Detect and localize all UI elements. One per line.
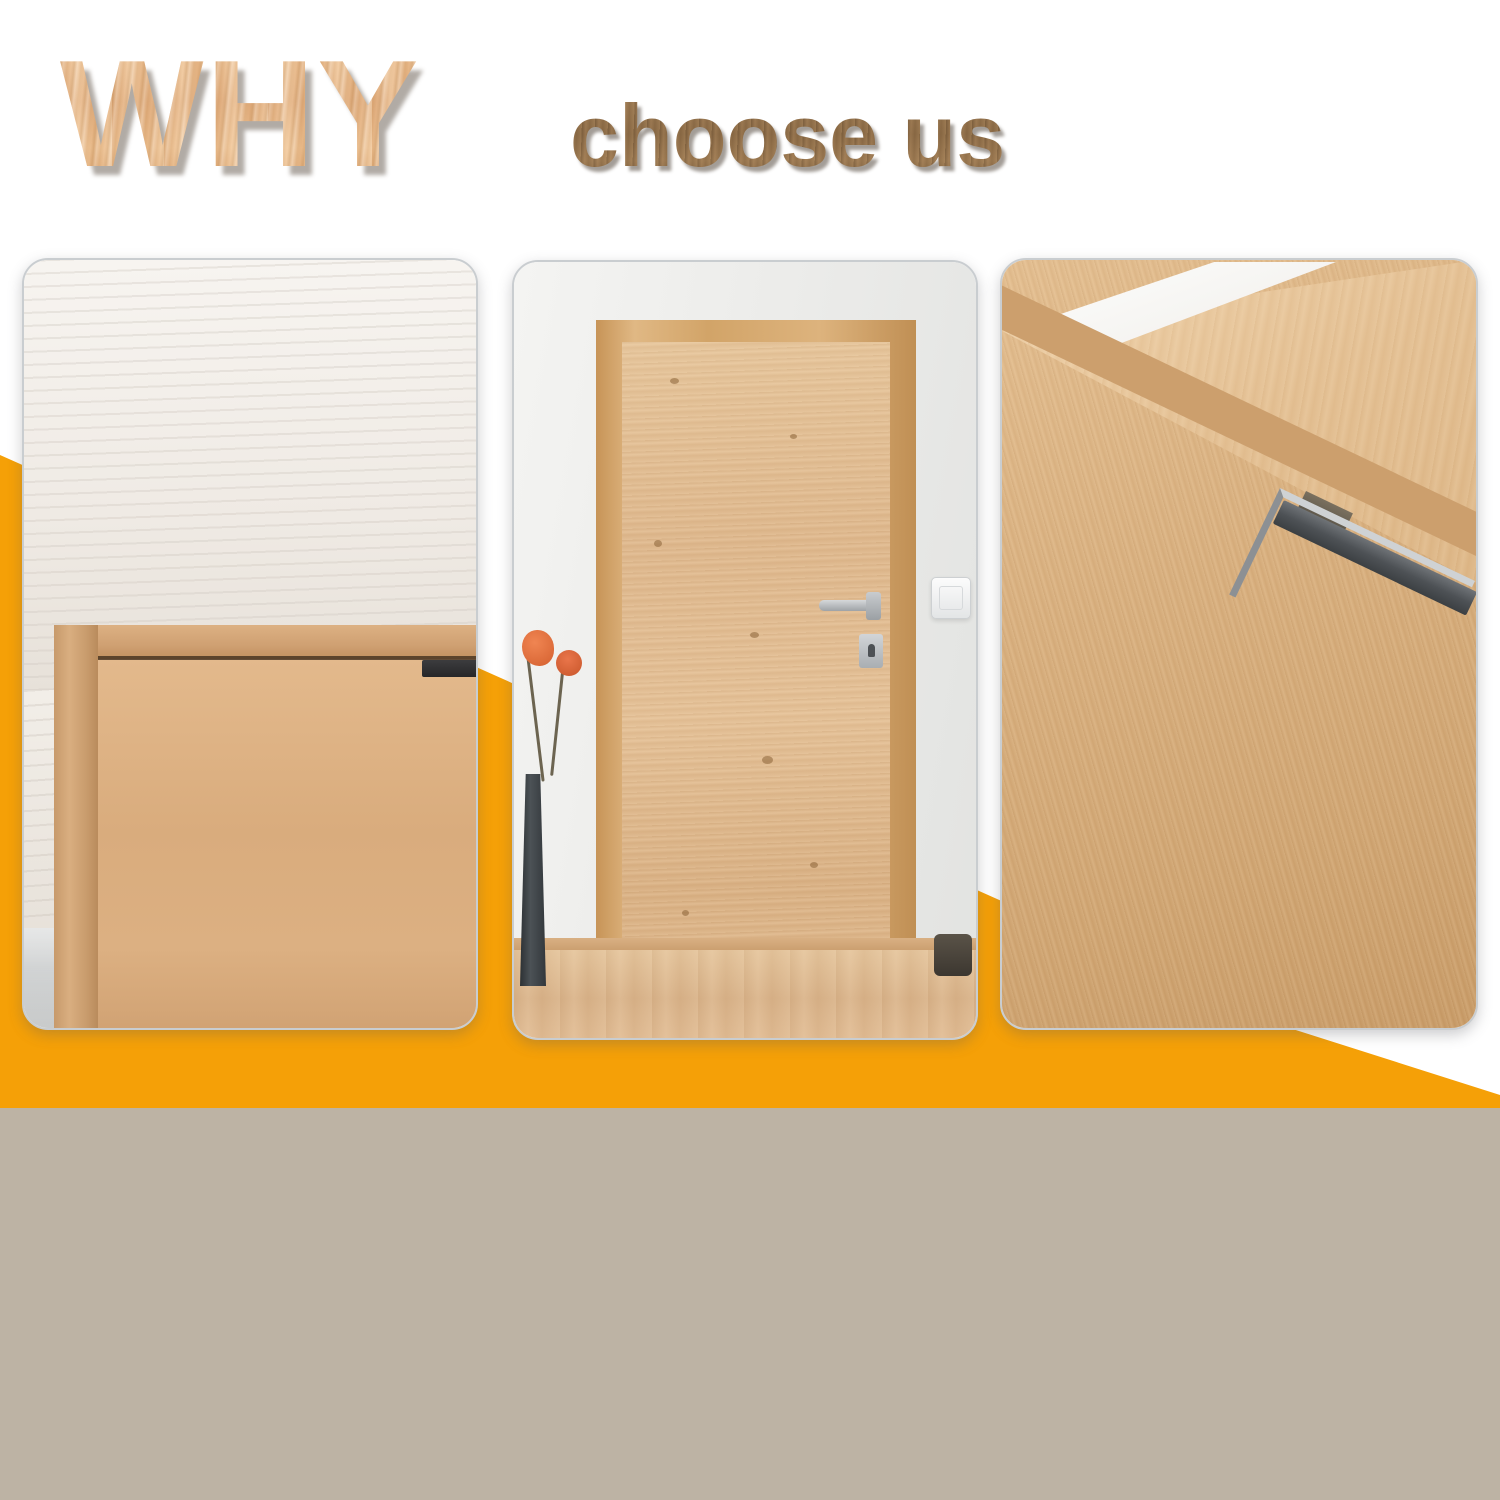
gallery-card-sideboard: [22, 258, 478, 1030]
dried-poppy-flower: [556, 650, 582, 676]
wood-knot: [790, 434, 797, 439]
wood-knot: [682, 910, 689, 916]
page-title-secondary: choose us: [570, 92, 1005, 180]
feature-list: HIGH QUALITY MATERIAL NATURE REDOAK WOOD…: [0, 1108, 1500, 1500]
dried-poppy-flower: [522, 630, 554, 666]
cabinet-door-panel: [98, 659, 478, 1030]
cabinet-top: [54, 625, 478, 659]
wood-knot: [670, 378, 679, 384]
gallery-card-drawer: [1000, 258, 1478, 1030]
floor-basket: [934, 934, 972, 976]
photo-drawer-edge-closeup: [1002, 260, 1476, 1028]
door-handle-rosette: [866, 592, 881, 620]
keyhole-icon: [868, 644, 875, 657]
wood-knot: [762, 756, 773, 764]
cabinet-side-panel: [54, 625, 98, 1030]
door-leaf: [622, 342, 890, 1020]
photo-oak-interior-door: [514, 262, 976, 1038]
wood-knot: [750, 632, 759, 638]
promo-infographic: WHY choose us: [0, 0, 1500, 1500]
gallery-card-door: [512, 260, 978, 1040]
wood-floor: [514, 950, 976, 1038]
door-seam-top: [98, 656, 478, 660]
page-title-primary: WHY: [60, 38, 421, 190]
header: WHY choose us: [0, 0, 1500, 240]
photo-wooden-sideboard-cabinet: [24, 260, 476, 1028]
wood-knot: [810, 862, 818, 868]
wood-knot: [654, 540, 662, 547]
cabinet-handle: [422, 660, 478, 677]
light-switch-rocker: [939, 586, 963, 610]
